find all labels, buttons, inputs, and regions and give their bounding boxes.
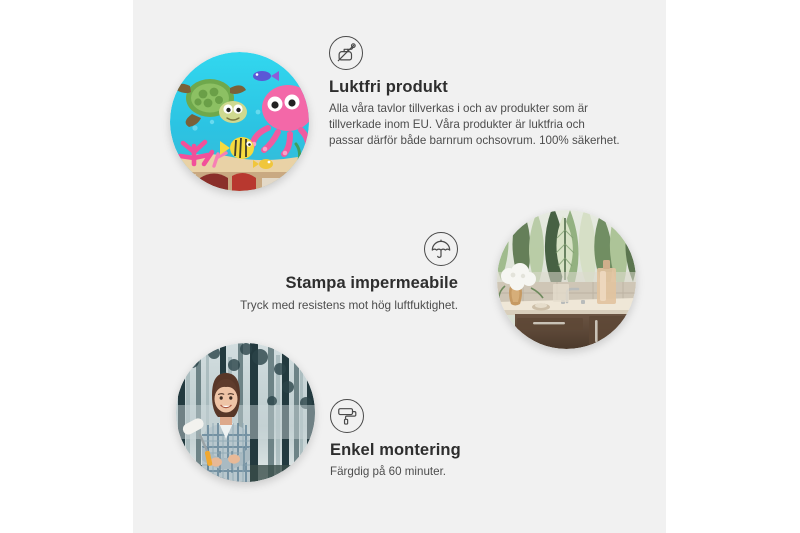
forest-artwork bbox=[176, 343, 315, 482]
paint-roller-icon bbox=[330, 399, 364, 433]
underwater-artwork bbox=[170, 52, 309, 191]
feature-title: Luktfri produkt bbox=[329, 78, 629, 97]
promo-infographic: Luktfri produkt Alla våra tavlor tillver… bbox=[0, 0, 800, 533]
bathroom-artwork bbox=[497, 210, 636, 349]
feature-waterproof: Stampa impermeabile Tryck med resistens … bbox=[208, 232, 458, 313]
feature-title: Enkel montering bbox=[330, 441, 610, 460]
underwater-cartoon-mural-image bbox=[170, 52, 309, 191]
bathroom-tropical-wallpaper-image bbox=[497, 210, 636, 349]
no-fragrance-icon bbox=[329, 36, 363, 70]
feature-title: Stampa impermeabile bbox=[208, 274, 458, 293]
feature-body: Färgdig på 60 minuter. bbox=[330, 464, 610, 480]
umbrella-icon bbox=[424, 232, 458, 266]
feature-easy-install: Enkel montering Färgdig på 60 minuter. bbox=[330, 399, 610, 480]
feature-body: Tryck med resistens mot hög luftfuktighe… bbox=[208, 297, 458, 313]
forest-mural-with-decorator-image bbox=[176, 343, 315, 482]
feature-odour-free: Luktfri produkt Alla våra tavlor tillver… bbox=[329, 36, 629, 150]
feature-body: Alla våra tavlor tillverkas i och av pro… bbox=[329, 101, 621, 150]
